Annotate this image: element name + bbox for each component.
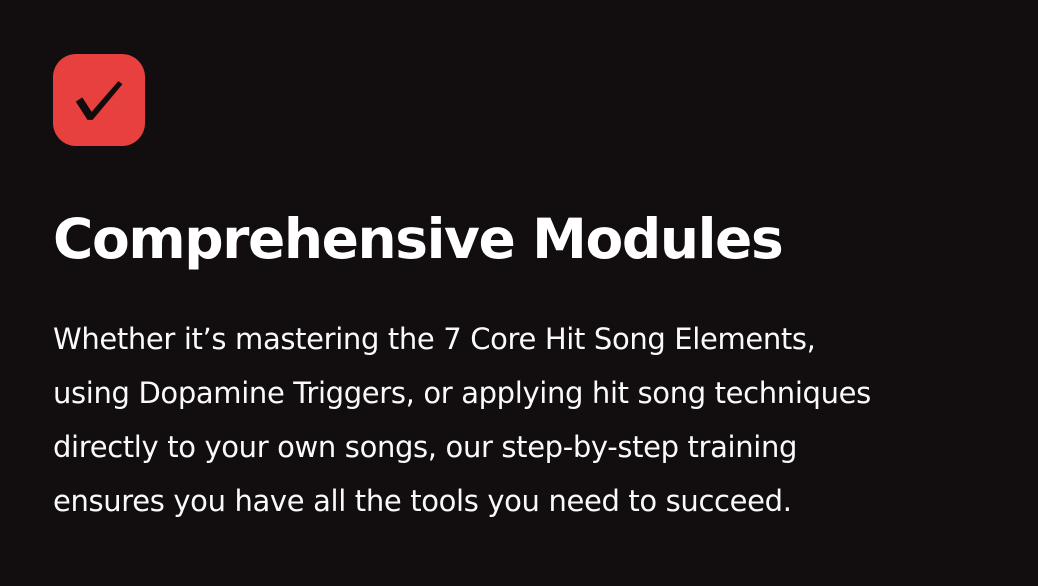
page-title: Comprehensive Modules	[53, 206, 782, 272]
description-line: ensures you have all the tools you need …	[53, 474, 1021, 528]
description-line: directly to your own songs, our step-by-…	[53, 420, 1021, 474]
feature-card: Comprehensive Modules Whether it’s maste…	[0, 0, 1038, 586]
checkmark-icon-badge	[53, 54, 145, 146]
card-description: Whether it’s mastering the 7 Core Hit So…	[53, 312, 1021, 528]
checkmark-icon	[71, 72, 127, 128]
description-line: using Dopamine Triggers, or applying hit…	[53, 366, 1021, 420]
description-line: Whether it’s mastering the 7 Core Hit So…	[53, 312, 1021, 366]
